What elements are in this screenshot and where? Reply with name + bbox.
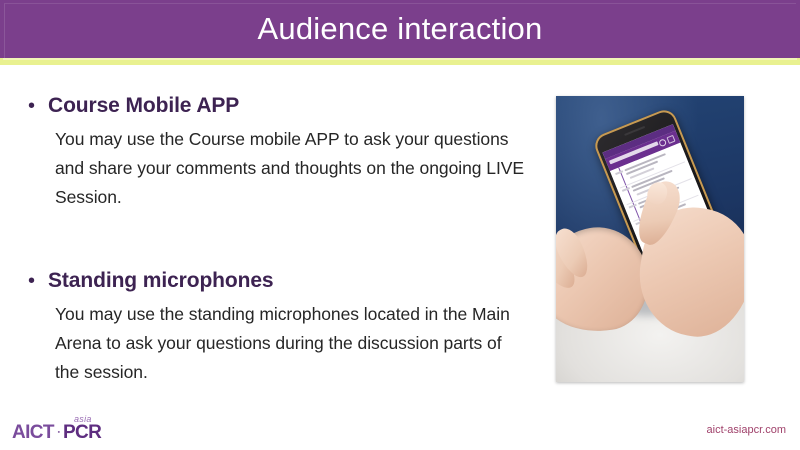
logo-aict-text: AICT [12, 422, 54, 443]
bullet-heading: Standing microphones [38, 267, 274, 295]
search-icon [658, 138, 667, 147]
profile-icon [666, 135, 675, 144]
bullet-dot-icon: • [22, 267, 38, 295]
bullet-block-standing-microphones: • Standing microphones You may use the s… [22, 267, 532, 387]
accent-divider-highlight [3, 58, 797, 60]
bullet-row: • Course Mobile APP [22, 92, 532, 120]
mobile-app-photo [556, 96, 744, 382]
aict-asiapcr-logo: asia AICT∙PCR [12, 416, 116, 444]
bullet-body-text: You may use the standing microphones loc… [55, 300, 525, 387]
logo-wordmark: AICT∙PCR [12, 422, 101, 444]
page-title: Audience interaction [0, 0, 800, 58]
bullet-row: • Standing microphones [22, 267, 532, 295]
slide: Audience interaction • Course Mobile APP… [0, 0, 800, 450]
bullet-heading: Course Mobile APP [38, 92, 239, 120]
bullet-dot-icon: • [22, 92, 38, 120]
logo-pcr-text: PCR [63, 422, 101, 443]
bullet-block-course-mobile-app: • Course Mobile APP You may use the Cour… [22, 92, 532, 212]
bullet-body-text: You may use the Course mobile APP to ask… [55, 125, 525, 212]
content-area: • Course Mobile APP You may use the Cour… [22, 92, 532, 387]
title-bar: Audience interaction [0, 0, 800, 58]
website-url[interactable]: aict-asiapcr.com [707, 424, 786, 436]
logo-separator-icon: ∙ [54, 425, 63, 439]
